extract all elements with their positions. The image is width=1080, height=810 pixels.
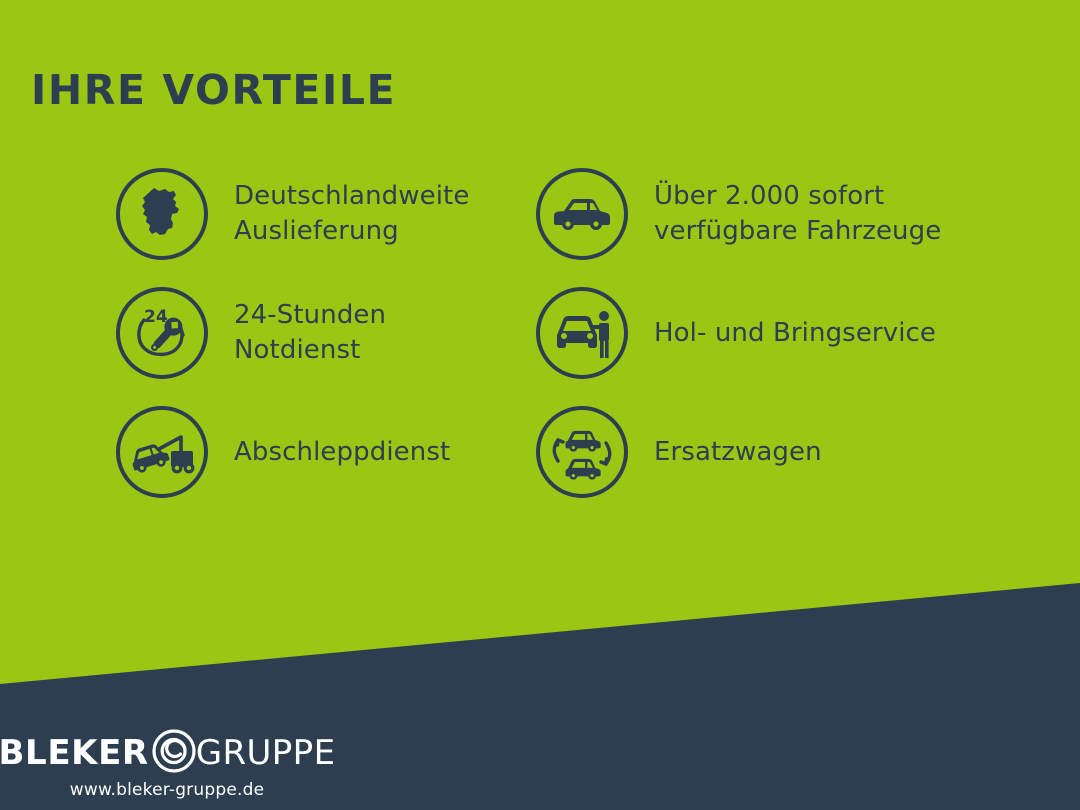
logo-secondary-text: GRUPPE xyxy=(196,736,336,770)
benefit-label: Abschleppdienst xyxy=(234,435,450,470)
benefit-item-hol-und-bringservice[interactable]: Hol- und Bringservice xyxy=(536,287,1016,379)
benefit-label: Ersatzwagen xyxy=(654,435,822,470)
svg-text:24: 24 xyxy=(144,307,168,327)
car-front-with-person-icon xyxy=(536,287,628,379)
24-hour-wrench-icon: 24 xyxy=(116,287,208,379)
company-logo[interactable]: BLEKER GRUPPE www.bleker-gruppe.de xyxy=(22,732,312,800)
logo-primary-text: BLEKER xyxy=(0,736,149,770)
benefit-item-24-stunden-notdienst[interactable]: 24 24-Stunden Notdienst xyxy=(116,287,536,379)
benefit-label: Über 2.000 sofort verfügbare Fahrzeuge xyxy=(654,179,941,248)
benefits-grid: Deutschlandweite Auslieferung Über 2.000… xyxy=(116,168,1016,525)
two-cars-exchange-icon xyxy=(536,406,628,498)
logo-wordmark: BLEKER GRUPPE xyxy=(0,732,335,774)
spiral-logo-icon xyxy=(151,728,197,778)
benefit-label: Hol- und Bringservice xyxy=(654,316,936,351)
benefits-row: 24 24-Stunden Notdienst xyxy=(116,287,1016,379)
benefits-row: Deutschlandweite Auslieferung Über 2.000… xyxy=(116,168,1016,260)
slide-canvas: IHRE VORTEILE Deutschlandweite Ausliefer… xyxy=(0,0,1080,810)
page-title: IHRE VORTEILE xyxy=(31,66,396,114)
germany-map-icon xyxy=(116,168,208,260)
tow-truck-icon xyxy=(116,406,208,498)
benefit-item-ersatzwagen[interactable]: Ersatzwagen xyxy=(536,406,1016,498)
benefit-item-abschleppdienst[interactable]: Abschleppdienst xyxy=(116,406,536,498)
benefit-label: 24-Stunden Notdienst xyxy=(234,298,386,367)
benefit-label: Deutschlandweite Auslieferung xyxy=(234,179,469,248)
car-side-icon xyxy=(536,168,628,260)
benefit-item-verfuegbare-fahrzeuge[interactable]: Über 2.000 sofort verfügbare Fahrzeuge xyxy=(536,168,1016,260)
benefit-item-deutschlandweite-auslieferung[interactable]: Deutschlandweite Auslieferung xyxy=(116,168,536,260)
website-url[interactable]: www.bleker-gruppe.de xyxy=(70,780,265,800)
benefits-row: Abschleppdienst xyxy=(116,406,1016,498)
